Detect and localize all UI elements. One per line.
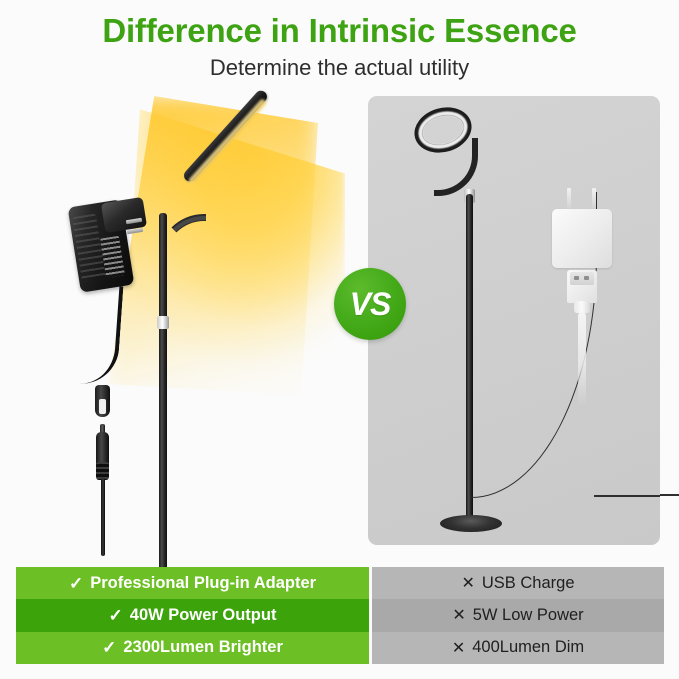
usb-lamp-cable-tail: [594, 495, 660, 497]
table-row: ✓ 2300Lumen Brighter: [16, 632, 369, 664]
cross-icon: ✕: [461, 573, 474, 593]
ring-lamp-neck: [434, 138, 478, 196]
con-item-label: 5W Low Power: [473, 606, 584, 625]
con-item-label: USB Charge: [482, 574, 575, 593]
dc-socket-hole: [99, 399, 106, 414]
check-icon: ✓: [69, 575, 83, 592]
table-row: ✕ 5W Low Power: [372, 599, 664, 631]
vs-label: VS: [350, 288, 391, 320]
cross-icon: ✕: [452, 605, 465, 625]
page-subtitle: Determine the actual utility: [0, 55, 679, 81]
vs-badge: VS: [334, 268, 406, 340]
round-lamp-base: [440, 515, 502, 532]
pro-item-label: 40W Power Output: [130, 606, 277, 625]
usb-pin-icon: [574, 276, 579, 280]
usb-cable: [578, 312, 586, 407]
comparison-table: ✓ Professional Plug-in Adapter ✓ 40W Pow…: [16, 567, 664, 664]
table-row: ✓ 40W Power Output: [16, 599, 369, 631]
con-item-label: 400Lumen Dim: [472, 638, 584, 657]
cable-exit-segment: [660, 494, 679, 496]
pro-item-label: 2300Lumen Brighter: [123, 638, 283, 657]
page-title: Difference in Intrinsic Essence: [0, 12, 679, 50]
pole-collar: [157, 316, 169, 329]
usb-charger-prong-icon: [567, 188, 571, 211]
left-product-scene: [0, 88, 350, 558]
right-product-panel: [368, 96, 660, 545]
table-row: ✕ USB Charge: [372, 567, 664, 599]
pro-column: ✓ Professional Plug-in Adapter ✓ 40W Pow…: [16, 567, 369, 664]
table-row: ✕ 400Lumen Dim: [372, 632, 664, 664]
pro-item-label: Professional Plug-in Adapter: [90, 574, 316, 593]
dc-cable-tail: [101, 478, 105, 556]
usb-wall-charger: [552, 209, 612, 268]
table-row: ✓ Professional Plug-in Adapter: [16, 567, 369, 599]
check-icon: ✓: [102, 639, 116, 656]
check-icon: ✓: [109, 607, 123, 624]
cross-icon: ✕: [452, 638, 465, 658]
usb-pin-icon: [584, 276, 589, 280]
product-comparison-infographic: Difference in Intrinsic Essence Determin…: [0, 0, 679, 679]
con-column: ✕ USB Charge ✕ 5W Low Power ✕ 400Lumen D…: [372, 567, 664, 664]
usb-charger-prong-icon: [592, 188, 596, 211]
